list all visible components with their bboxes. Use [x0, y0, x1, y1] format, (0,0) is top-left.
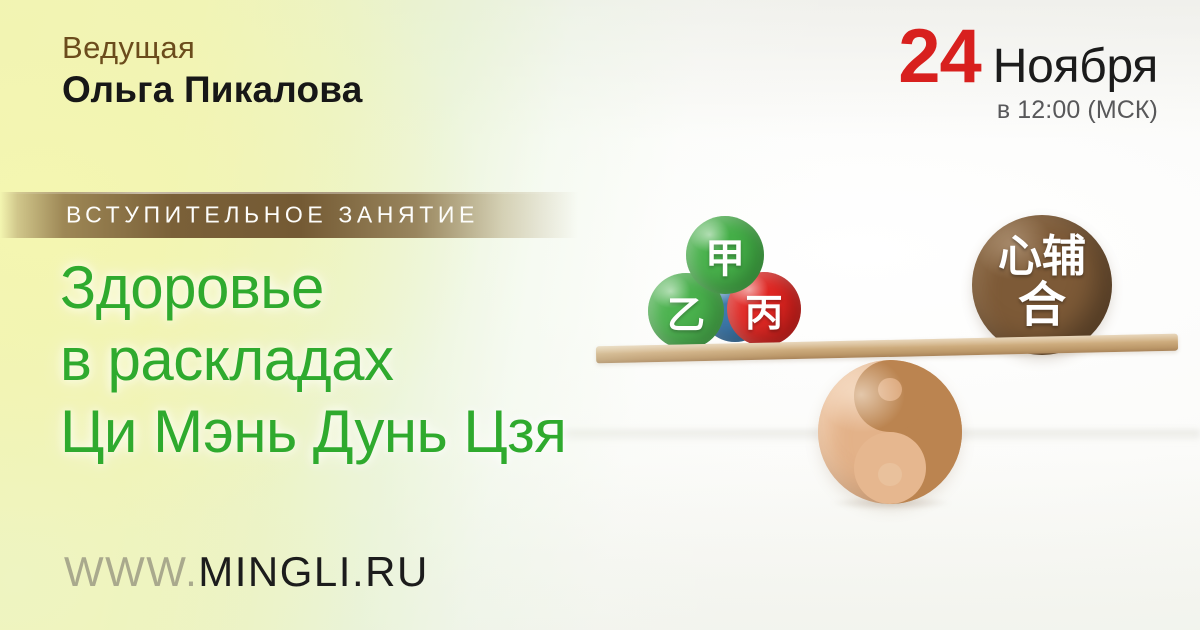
date-time: в 12:00 (МСК): [898, 96, 1158, 125]
headline-line-3: Ци Мэнь Дунь Цзя: [60, 396, 566, 468]
date-row: 24 Ноября: [898, 22, 1158, 92]
date-block: 24 Ноября в 12:00 (МСК): [898, 22, 1158, 125]
url-domain: MINGLI.RU: [198, 548, 429, 595]
disc-glyph-row2: 合: [972, 281, 1112, 329]
headline-line-1: Здоровье: [60, 252, 566, 324]
ribbon-label: ВСТУПИТЕЛЬНОЕ ЗАНЯТИЕ: [66, 202, 479, 229]
ball-highlight: [818, 360, 962, 504]
headline-line-2: в раскладах: [60, 324, 566, 396]
promo-banner: 乙 丙 甲 心辅 合 Ведущая: [0, 0, 1200, 630]
ribbon-banner: ВСТУПИТЕЛЬНОЕ ЗАНЯТИЕ: [0, 192, 578, 238]
presenter-block: Ведущая Ольга Пикалова: [62, 30, 363, 112]
url-prefix: WWW.: [64, 548, 198, 595]
headline-block: Здоровье в раскладах Ци Мэнь Дунь Цзя: [60, 252, 566, 468]
yin-yang-ball: [818, 360, 962, 504]
brown-disc: 心辅 合: [972, 215, 1112, 355]
disc-glyph-row1: 心辅: [972, 235, 1112, 279]
date-month: Ноября: [993, 43, 1158, 91]
website-url[interactable]: WWW.MINGLI.RU: [64, 548, 429, 596]
presenter-role: Ведущая: [62, 30, 363, 66]
presenter-name: Ольга Пикалова: [62, 68, 363, 112]
date-day: 24: [898, 22, 981, 92]
